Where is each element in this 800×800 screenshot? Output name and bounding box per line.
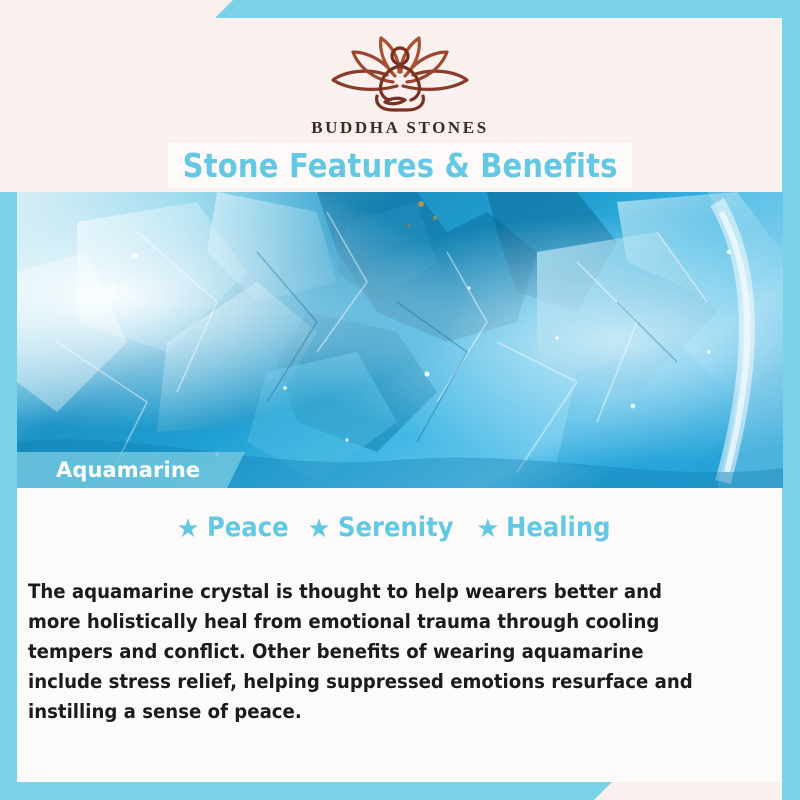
frame-accent-top [215, 0, 800, 18]
keyword-item-healing: ★ Healing [476, 512, 623, 543]
lotus-meditation-figure-icon [315, 26, 485, 114]
stone-description: The aquamarine crystal is thought to hel… [28, 577, 707, 727]
keyword-label: Serenity [338, 512, 454, 543]
keyword-list: ★ Peace ★ Serenity ★ Healing [17, 512, 782, 543]
frame-accent-left [0, 192, 17, 782]
stone-name-label: Aquamarine [17, 458, 200, 482]
page-title: Stone Features & Benefits [183, 146, 618, 185]
infographic-card: BUDDHA STONES Stone Features & Benefits [0, 0, 800, 800]
star-icon: ★ [307, 515, 330, 541]
crystal-photo [17, 192, 783, 488]
stone-name-tag: Aquamarine [17, 452, 245, 488]
keyword-label: Healing [506, 512, 611, 543]
keyword-item-peace: ★ Peace [176, 512, 297, 543]
frame-accent-bottom [0, 782, 612, 800]
keyword-item-serenity: ★ Serenity [307, 512, 466, 543]
keyword-label: Peace [207, 512, 289, 543]
brand-wordmark: BUDDHA STONES [0, 118, 800, 138]
star-icon: ★ [176, 515, 199, 541]
star-icon: ★ [476, 515, 499, 541]
crystal-photo-art [17, 192, 783, 488]
brand-logo: BUDDHA STONES [0, 26, 800, 138]
section-title-banner: Stone Features & Benefits [168, 143, 632, 188]
